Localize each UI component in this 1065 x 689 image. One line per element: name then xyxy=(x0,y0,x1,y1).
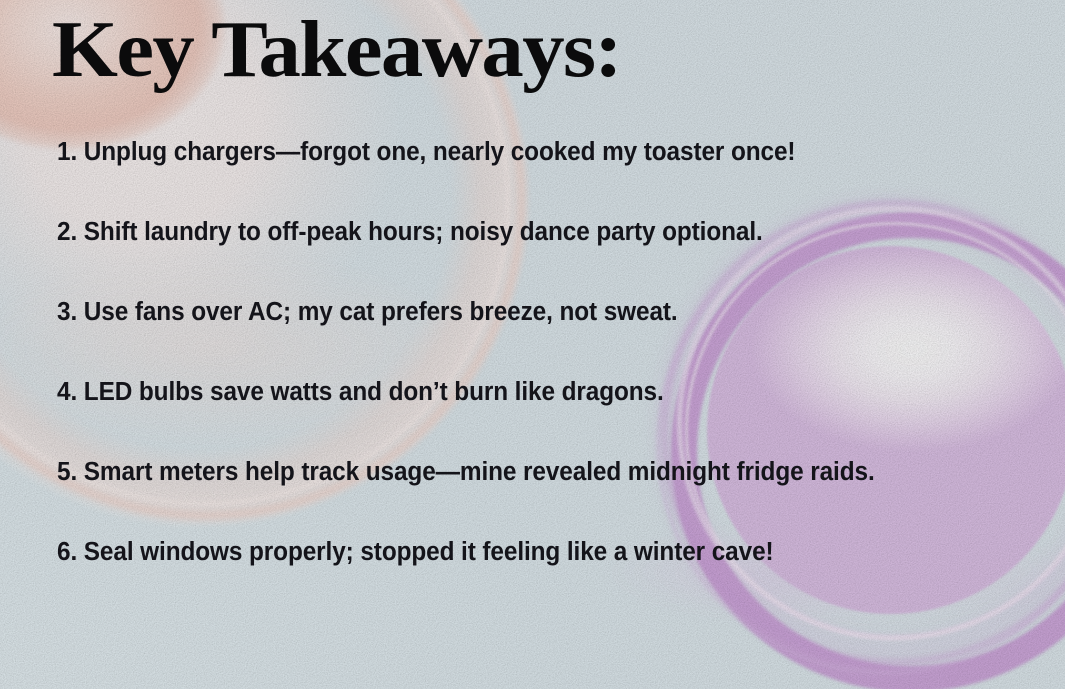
page-title: Key Takeaways: xyxy=(52,10,621,90)
list-item: 1. Unplug chargers—forgot one, nearly co… xyxy=(57,140,974,220)
list-item: 4. LED bulbs save watts and don’t burn l… xyxy=(57,380,974,460)
slide-canvas: Key Takeaways: 1. Unplug chargers—forgot… xyxy=(0,0,1065,689)
takeaways-list: 1. Unplug chargers—forgot one, nearly co… xyxy=(57,140,1017,620)
list-item: 2. Shift laundry to off-peak hours; nois… xyxy=(57,220,974,300)
list-item: 6. Seal windows properly; stopped it fee… xyxy=(57,540,974,620)
list-item: 5. Smart meters help track usage—mine re… xyxy=(57,460,974,540)
list-item: 3. Use fans over AC; my cat prefers bree… xyxy=(57,300,974,380)
